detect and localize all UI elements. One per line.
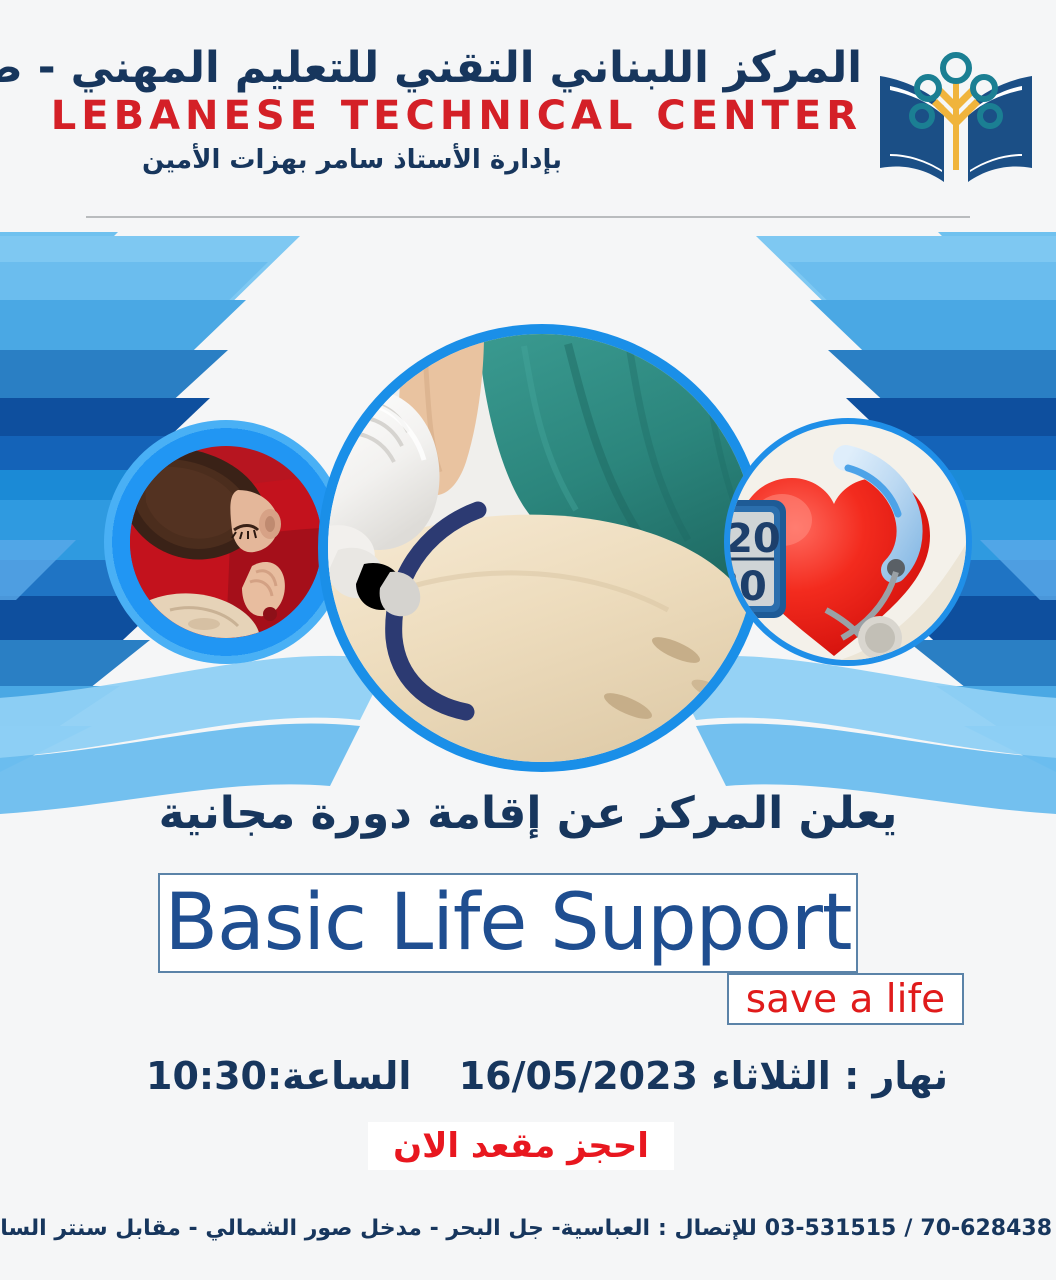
footer-contact-line: 03-531515/70-628438للإتصال :العباسية- جل… xyxy=(0,1216,1056,1241)
tagline: save a life xyxy=(727,974,964,1024)
announcement-headline: يعلن المركز عن إقامة دورة مجانية xyxy=(0,788,1056,839)
schedule-line: نهار : الثلاثاء 16/05/2023 الساعة:10:30 xyxy=(0,1054,1056,1104)
reserve-seat-cta[interactable]: احجز مقعد الان xyxy=(368,1122,674,1170)
course-time: الساعة:10:30 xyxy=(146,1054,411,1098)
course-title: Basic Life Support xyxy=(158,875,858,971)
footer-phone-1[interactable]: 70-628438 xyxy=(920,1216,1052,1241)
footer-contact-label: للإتصال : xyxy=(658,1216,757,1241)
footer-separator: / xyxy=(904,1216,912,1241)
footer-phone-2[interactable]: 03-531515 xyxy=(765,1216,897,1241)
course-date: نهار : الثلاثاء 16/05/2023 xyxy=(459,1054,948,1098)
footer-address: العباسية- جل البحر - مدخل صور الشمالي - … xyxy=(0,1216,650,1241)
poster-root: المركز اللبناني التقني للتعليم المهني - … xyxy=(0,0,1056,1280)
poster-content: يعلن المركز عن إقامة دورة مجانية Basic L… xyxy=(0,0,1056,1280)
